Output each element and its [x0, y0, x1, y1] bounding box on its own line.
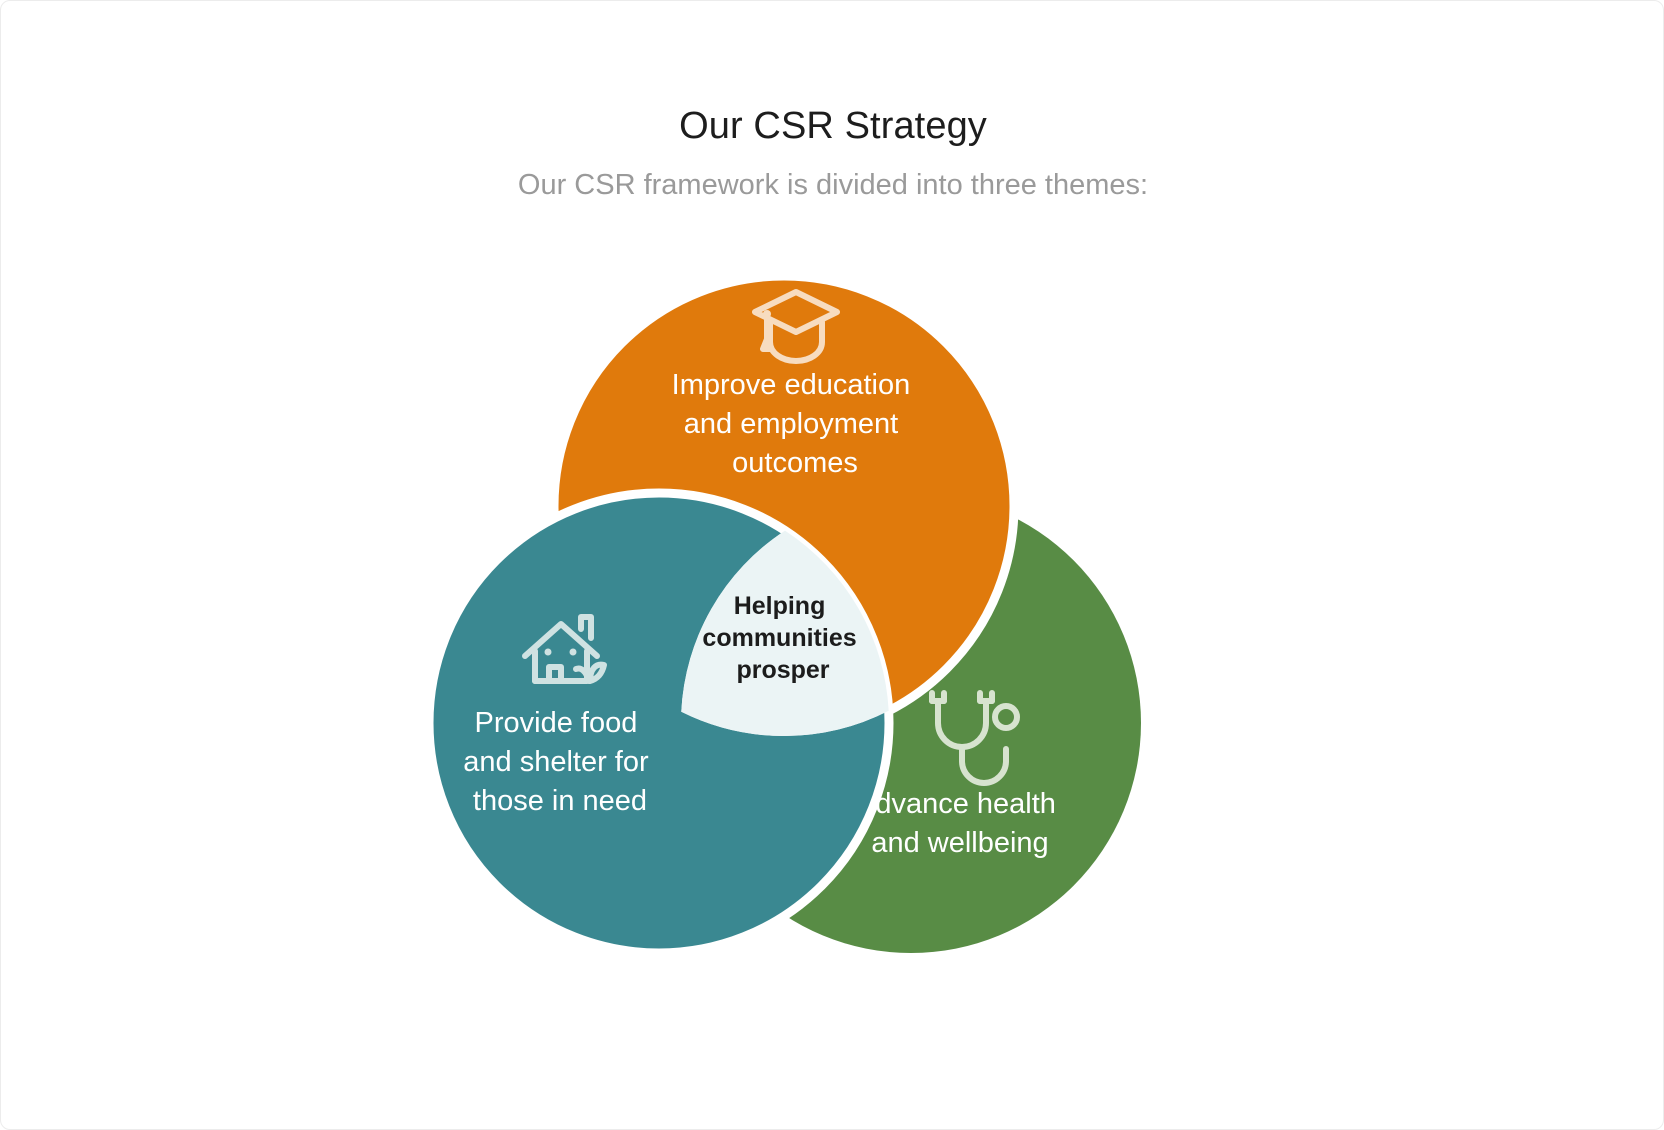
csr-strategy-page: Our CSR Strategy Our CSR framework is di… — [0, 0, 1664, 1130]
shelter-line-2: and shelter for — [463, 746, 649, 778]
health-line-2: and wellbeing — [871, 827, 1048, 859]
venn-diagram: Advance health and wellbeing Improve edu… — [1, 1, 1664, 1130]
education-line-3: outcomes — [732, 447, 858, 479]
venn-label-shelter: Provide food and shelter for those in ne… — [463, 707, 656, 817]
center-line-3: prosper — [736, 656, 829, 684]
center-line-1: Helping — [734, 592, 826, 620]
shelter-line-3: those in need — [473, 785, 647, 817]
shelter-line-1: Provide food — [475, 707, 638, 739]
center-line-2: communities — [702, 624, 856, 652]
education-line-1: Improve education — [672, 369, 911, 401]
health-line-1: Advance health — [856, 788, 1056, 820]
education-line-2: and employment — [684, 408, 898, 440]
